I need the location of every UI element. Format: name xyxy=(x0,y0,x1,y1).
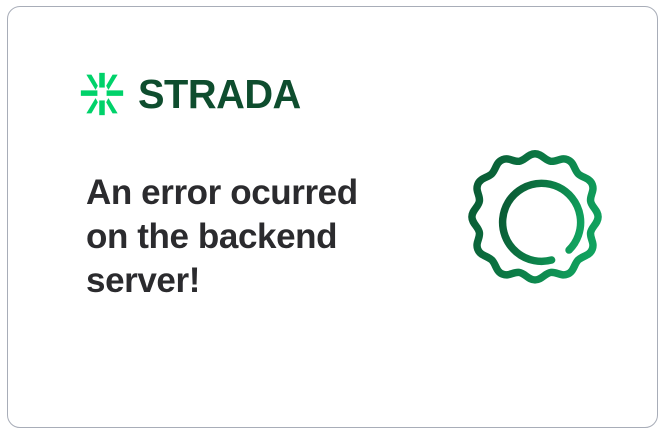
error-screen: STRADA An error ocurred on the backend s… xyxy=(0,0,666,436)
error-card: STRADA An error ocurred on the backend s… xyxy=(7,6,658,428)
brand-wordmark: STRADA xyxy=(138,74,301,115)
strada-asterisk-icon xyxy=(79,71,125,117)
brand-lockup: STRADA xyxy=(79,71,306,117)
error-message: An error ocurred on the backend server! xyxy=(86,171,376,303)
gear-icon xyxy=(452,143,618,309)
